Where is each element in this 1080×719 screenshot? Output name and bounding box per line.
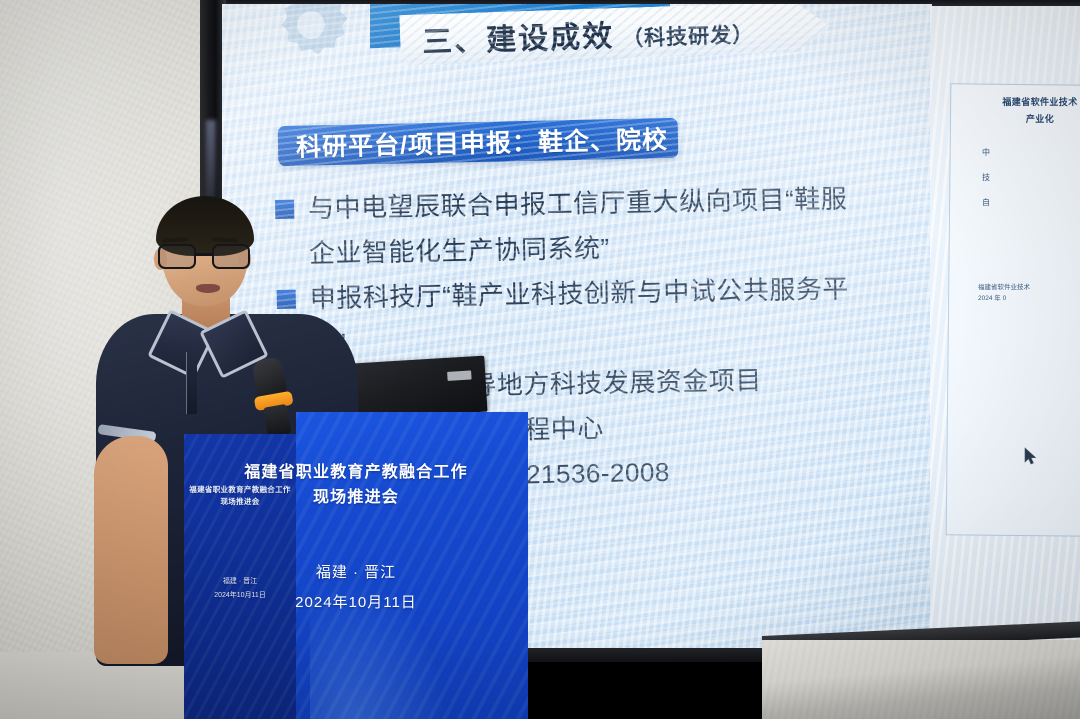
podium-side-line1: 福建省职业教育产教融合工作	[188, 484, 292, 496]
polo-collar	[160, 318, 256, 376]
laptop-logo-icon	[447, 370, 471, 380]
section-label-pill: 科研平台/项目申报：鞋企、院校	[278, 118, 679, 166]
document-title-line2: 产业化	[970, 111, 1080, 128]
bullet-text: 企业智能化生产协同系统”	[309, 227, 610, 276]
document-footer-line1: 福建省软件业技术	[978, 282, 1080, 293]
presenter-mouth	[196, 284, 220, 293]
secondary-display-document: 福建省软件业技术 产业化 中 技 自 福建省软件业技术 2024 年 0	[930, 6, 1080, 661]
glasses-lens-right	[212, 244, 250, 269]
bullet-text: 申报科技厅“鞋产业科技创新与中试公共服务平	[309, 267, 849, 320]
document-title: 福建省软件业技术 产业化	[970, 94, 1080, 128]
document-row: 技	[982, 165, 1080, 190]
podium-side-line2: 现场推进会	[188, 496, 292, 508]
document-footer-line2: 2024 年 0	[978, 293, 1080, 304]
glasses-bridge	[196, 253, 212, 256]
bullet-text: 与中电望辰联合申报工信厅重大纵向项目“鞋服	[308, 178, 848, 231]
glasses-icon	[156, 244, 254, 270]
podium-side-place: 福建 · 晋江	[188, 576, 292, 588]
document-row: 自	[982, 190, 1080, 215]
presenter-arm-left	[94, 436, 168, 664]
slide-title-main: 三、建设成效	[421, 11, 614, 61]
right-wall	[762, 640, 1080, 719]
document-row: 中	[982, 140, 1080, 165]
slide-title-sub: （科技研发）	[622, 18, 755, 52]
section-label-text: 科研平台/项目申报：鞋企、院校	[296, 120, 669, 164]
gear-icon	[268, 4, 354, 68]
podium-front-line1: 福建省职业教育产教融合工作	[184, 460, 528, 485]
slide-title-banner: 三、建设成效 （科技研发）	[399, 4, 830, 65]
podium-side-date: 2024年10月11日	[188, 590, 292, 602]
document-rows: 中 技 自	[982, 140, 1080, 215]
podium-side-text: 福建省职业教育产教融合工作 现场推进会 福建 · 晋江 2024年10月11日	[188, 484, 292, 602]
conference-photo-scene: 三、建设成效 （科技研发） 科研平台/项目申报：鞋企、院校 与中电望辰联合申报工…	[0, 0, 1080, 719]
mouse-pointer-icon	[1024, 447, 1037, 465]
polo-placket	[186, 352, 197, 414]
podium: 福建省职业教育产教融合工作 现场推进会 福建 · 晋江 2024年10月11日 …	[184, 406, 528, 719]
document-title-line1: 福建省软件业技术	[1002, 97, 1077, 107]
document-footer: 福建省软件业技术 2024 年 0	[978, 282, 1080, 304]
glasses-lens-left	[158, 244, 196, 269]
